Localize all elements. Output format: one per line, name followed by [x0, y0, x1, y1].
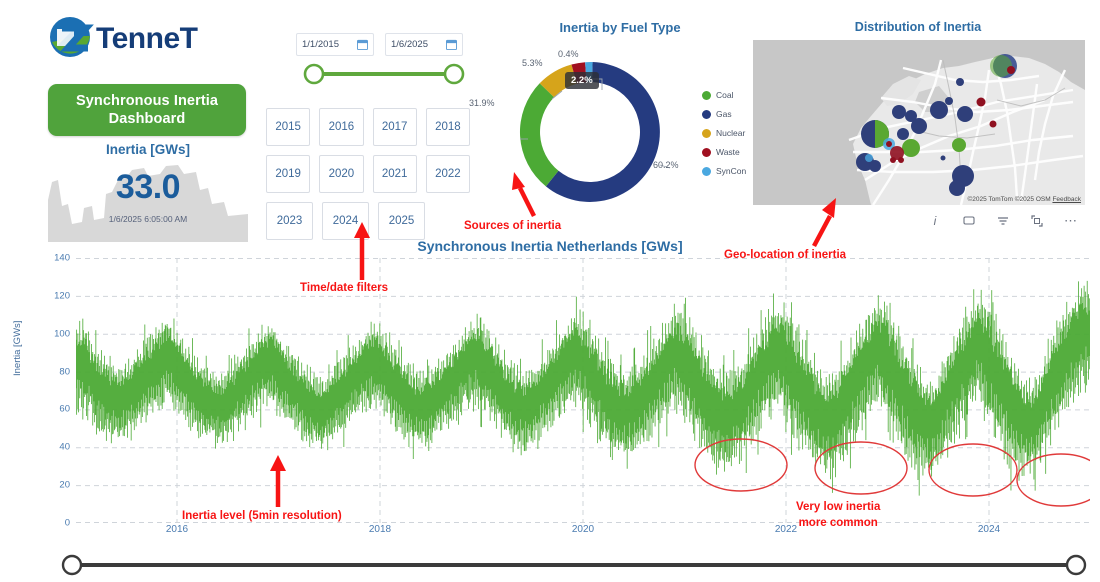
year-tile-2020[interactable]: 2020 [319, 155, 363, 193]
map-bubble[interactable] [911, 118, 927, 134]
annotation-time-filters: Time/date filters [300, 282, 388, 294]
comment-icon[interactable] [962, 214, 976, 228]
calendar-icon[interactable] [357, 39, 368, 50]
kpi-value: 33.0 [48, 168, 248, 207]
donut-label-waste: 2.2% [565, 72, 599, 89]
date-from-value: 1/1/2015 [302, 39, 339, 50]
x-tick-2022: 2022 [775, 524, 797, 535]
donut-title: Inertia by Fuel Type [525, 20, 715, 35]
legend-swatch-gas [702, 110, 711, 119]
legend-label-syncon: SynCon [716, 166, 746, 176]
y-tick-0: 0 [46, 518, 70, 529]
annotation-sources: Sources of inertia [464, 220, 561, 232]
legend-swatch-syncon [702, 167, 711, 176]
year-tile-2017[interactable]: 2017 [373, 108, 417, 146]
annotation-arrow-geo [808, 198, 838, 248]
map-bubble[interactable] [945, 97, 953, 105]
donut-label-coal: 31.9% [469, 98, 495, 108]
chart-plot-area[interactable] [76, 258, 1090, 523]
annotation-level: Inertia level (5min resolution) [182, 510, 342, 522]
chart-y-axis: 140 120 100 80 60 40 20 0 [44, 258, 70, 523]
legend-item-syncon[interactable]: SynCon [702, 166, 746, 176]
year-tile-2023[interactable]: 2023 [266, 202, 313, 240]
kpi-title: Inertia [GWs] [48, 142, 248, 157]
date-range-slider[interactable] [300, 62, 468, 86]
donut-label-syncon: 0.4% [558, 49, 579, 59]
more-options-icon[interactable]: ⋯ [1064, 214, 1078, 228]
focus-mode-icon[interactable] [1030, 214, 1044, 228]
annotation-geo: Geo-location of inertia [724, 249, 846, 261]
map-bubble[interactable] [897, 128, 909, 140]
highlight-ellipse-2 [815, 442, 907, 494]
x-tick-2016: 2016 [166, 524, 188, 535]
map-attribution-text: ©2025 TomTom ©2025 OSM [967, 196, 1050, 203]
inertia-time-series-chart: Inertia [GWs] 140 120 100 80 60 40 20 0 [18, 258, 1090, 548]
chart-title: Synchronous Inertia Netherlands [GWs] [340, 238, 760, 254]
donut-label-gas: 60.2% [653, 160, 679, 170]
annotation-arrow-sources [512, 172, 540, 220]
y-tick-20: 20 [46, 480, 70, 491]
year-tile-2022[interactable]: 2022 [426, 155, 470, 193]
y-tick-140: 140 [46, 253, 70, 264]
map-bubble[interactable] [956, 78, 964, 86]
dashboard-title-line1: Synchronous Inertia [76, 92, 218, 110]
y-tick-120: 120 [46, 290, 70, 301]
annotation-low-inertia-line2: more common [796, 516, 880, 532]
chart-range-slider-handle-left[interactable] [63, 556, 81, 574]
legend-item-waste[interactable]: Waste [702, 147, 746, 157]
y-tick-60: 60 [46, 404, 70, 415]
legend-item-nuclear[interactable]: Nuclear [702, 128, 746, 138]
year-tile-2015[interactable]: 2015 [266, 108, 310, 146]
chart-y-axis-label: Inertia [GWs] [12, 321, 23, 376]
y-tick-80: 80 [46, 366, 70, 377]
annotation-low-inertia: Very low inertia more common [796, 500, 880, 531]
x-tick-2024: 2024 [978, 524, 1000, 535]
legend-label-coal: Coal [716, 90, 733, 100]
map-bubble[interactable] [902, 139, 920, 157]
date-from-input[interactable]: 1/1/2015 [296, 33, 374, 56]
map-canvas[interactable]: ©2025 TomTom ©2025 OSM Feedback [753, 40, 1085, 205]
map-bubble[interactable] [890, 157, 896, 163]
highlight-ellipse-3 [929, 444, 1017, 496]
x-tick-2020: 2020 [572, 524, 594, 535]
legend-swatch-coal [702, 91, 711, 100]
map-bubble[interactable] [990, 55, 1012, 77]
y-tick-40: 40 [46, 442, 70, 453]
year-tile-2025[interactable]: 2025 [378, 202, 425, 240]
map-bubble[interactable] [952, 138, 966, 152]
annotation-low-inertia-line1: Very low inertia [796, 500, 880, 516]
date-range-slider-handle-right[interactable] [445, 65, 463, 83]
donut-legend: Coal Gas Nuclear Waste SynCon [702, 90, 746, 185]
annotation-arrow-level [268, 455, 288, 507]
annotation-arrow-time-filters [352, 222, 372, 280]
dashboard-title-button[interactable]: Synchronous Inertia Dashboard [48, 84, 246, 136]
map-bubble[interactable] [865, 154, 873, 162]
chart-series-synchronous-inertia[interactable] [76, 281, 1090, 496]
filter-icon[interactable] [996, 214, 1010, 228]
map-bubble[interactable] [990, 121, 997, 128]
map-feedback-link[interactable]: Feedback [1052, 196, 1081, 203]
map-title: Distribution of Inertia [748, 20, 1088, 34]
map-bubble[interactable] [957, 106, 973, 122]
map-graphic[interactable] [753, 40, 1085, 205]
legend-item-coal[interactable]: Coal [702, 90, 746, 100]
year-tile-2016[interactable]: 2016 [319, 108, 363, 146]
year-tile-2018[interactable]: 2018 [426, 108, 470, 146]
tennet-logo-icon: TenneT [48, 16, 248, 62]
map-bubble[interactable] [898, 157, 904, 163]
map-bubble[interactable] [949, 180, 965, 196]
map-attribution: ©2025 TomTom ©2025 OSM Feedback [967, 196, 1081, 203]
map-bubble[interactable] [977, 98, 986, 107]
map-bubble[interactable] [930, 101, 948, 119]
calendar-icon[interactable] [446, 39, 457, 50]
chart-range-slider-handle-right[interactable] [1067, 556, 1085, 574]
highlight-ellipse-4 [1017, 454, 1090, 506]
chart-x-axis: 2016 2018 2020 2022 2024 [76, 524, 1090, 546]
visual-toolbar: i ⋯ [748, 210, 1088, 232]
legend-label-waste: Waste [716, 147, 740, 157]
kpi-card: Inertia [GWs] 33.0 1/6/2025 6:05:00 AM [48, 142, 248, 242]
legend-swatch-waste [702, 148, 711, 157]
map-bubble[interactable] [892, 105, 906, 119]
year-tile-2019[interactable]: 2019 [266, 155, 310, 193]
kpi-timestamp: 1/6/2025 6:05:00 AM [48, 214, 248, 224]
map-bubble[interactable] [1007, 66, 1015, 74]
inertia-distribution-map: Distribution of Inertia [748, 20, 1088, 235]
tennet-logo-wordmark: TenneT [96, 22, 198, 55]
map-bubble[interactable] [869, 160, 881, 172]
dashboard-title-line2: Dashboard [76, 110, 218, 128]
y-tick-100: 100 [46, 328, 70, 339]
legend-item-gas[interactable]: Gas [702, 109, 746, 119]
legend-label-nuclear: Nuclear [716, 128, 745, 138]
map-bubble[interactable] [886, 141, 892, 147]
year-tile-2021[interactable]: 2021 [373, 155, 417, 193]
donut-label-nuclear: 5.3% [522, 58, 543, 68]
chart-range-slider[interactable] [60, 552, 1088, 578]
legend-label-gas: Gas [716, 109, 732, 119]
tennet-logo: TenneT [48, 16, 248, 62]
map-bubble[interactable] [941, 156, 946, 161]
info-icon[interactable]: i [928, 214, 942, 228]
x-tick-2018: 2018 [369, 524, 391, 535]
legend-swatch-nuclear [702, 129, 711, 138]
date-range-slider-handle-left[interactable] [305, 65, 323, 83]
date-to-input[interactable]: 1/6/2025 [385, 33, 463, 56]
date-to-value: 1/6/2025 [391, 39, 428, 50]
dashboard-page: TenneT Synchronous Inertia Dashboard Ine… [0, 0, 1100, 582]
